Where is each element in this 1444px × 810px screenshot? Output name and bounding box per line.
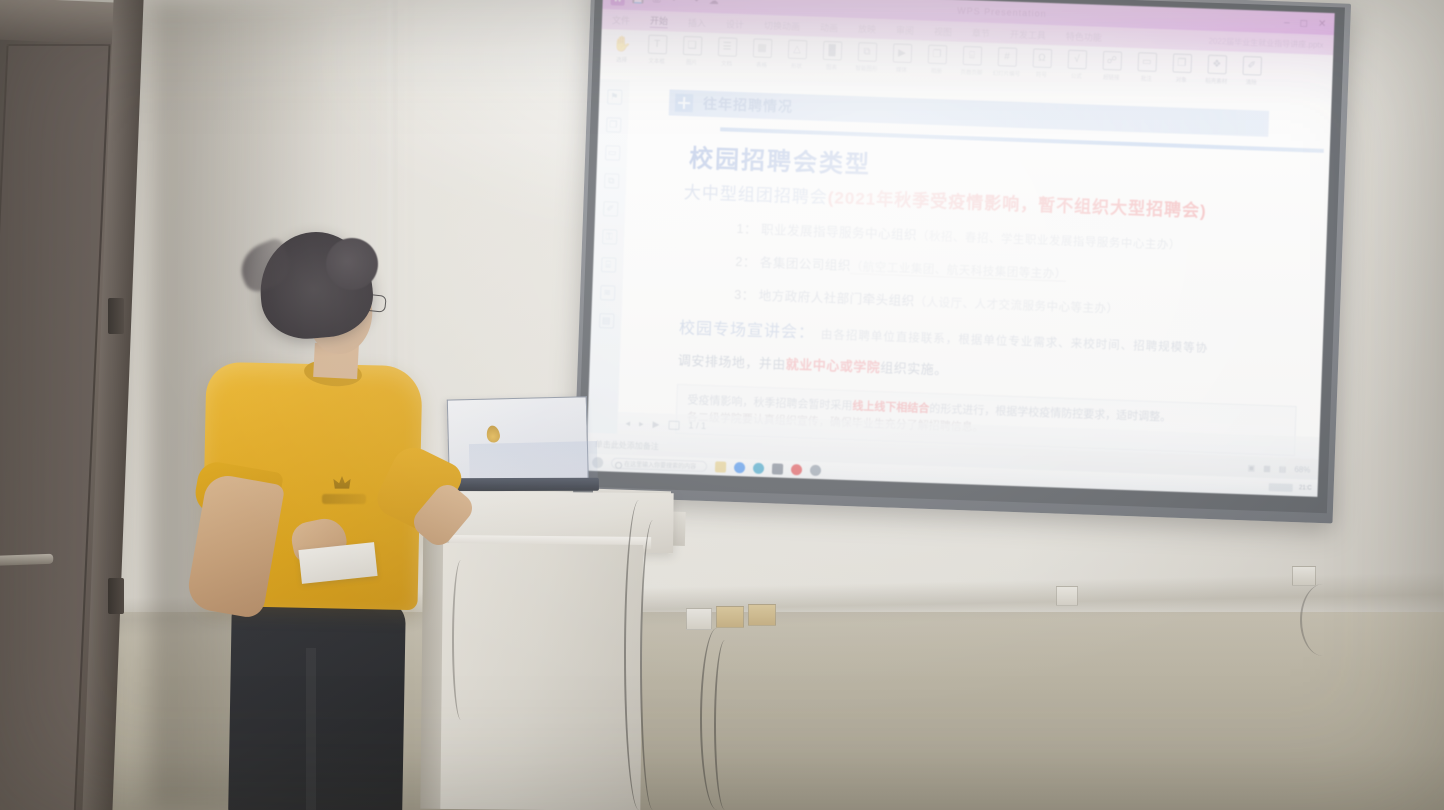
ribbon-button-label: 文本框 [648,56,665,65]
ribbon-button-label: 清除 [1246,77,1257,86]
presenter-hair-bun [326,238,378,290]
text-box-icon: T [647,35,667,55]
wall-outlet [748,604,776,626]
door-hinge [108,298,124,334]
ribbon-button-label: 形状 [791,61,802,70]
list-item-index: 1： [736,222,757,237]
clock-widget[interactable] [1269,483,1293,492]
sorter-view-icon[interactable]: ▦ [1263,463,1271,472]
line3-title: 校园专场宣讲会： [679,320,816,342]
list-item-note: （航空工业集团、航天科技集团等主办） [851,261,1067,282]
podium-front-panel [440,543,643,810]
ribbon-button-document[interactable]: ☰文档 [713,37,740,68]
brush-icon[interactable]: ✐ [602,201,618,217]
ribbon-tab-9[interactable]: 章节 [972,26,990,40]
presenter [196,228,456,810]
notes-placeholder[interactable]: 单击此处添加备注 [595,438,659,451]
shirt-crown-glyph [330,476,354,494]
tray-label: 21:C [1299,485,1312,491]
eraser-icon: ✐ [1242,56,1262,76]
ribbon-button-hand-select[interactable]: ✋选择 [608,33,635,64]
slide-heading: 校园招聘会类型 [689,138,872,179]
notes-icon[interactable]: ⌸ [600,257,616,273]
presenter-legs [228,598,406,810]
list-item-text: 地方政府人社部门牵头组织 [758,289,914,309]
folder-icon[interactable] [715,461,726,472]
line3-detail: 由各招聘单位直接联系，根据单位专业需求、来校时间、招聘规模等协 [821,329,1209,355]
chrome-icon[interactable] [734,462,745,473]
line4-suffix: 组织实施。 [880,360,948,377]
projection-screen: W 💾 ⎙ ↶ ↷ ☁ WPS Presentation – ◻ ✕ [573,0,1351,523]
ribbon-button-label: 公式 [1071,71,1082,80]
ribbon-tab-11[interactable]: 特色功能 [1066,29,1102,43]
slide-line-2: 大中型组团招聘会(2021年秋季受疫情影响，暫不组织大型招聘会) [684,178,1208,222]
callout-1-red: 线上线下相结合 [852,400,929,415]
ribbon-button-header-footer[interactable]: ⌸页眉页脚 [958,46,985,77]
ribbon-tab-8[interactable]: 视图 [934,24,952,38]
ribbon-button-label: 文档 [721,59,732,68]
line2-plain: 大中型组团招聘会 [684,183,829,207]
podium-cable [452,560,470,720]
ribbon-button-shape[interactable]: △形状 [783,40,810,71]
slide-list-item: 2：各集团公司组织（航空工业集团、航天科技集团等主办） [735,251,1180,286]
list-item-note: （人设厅、人才交流服务中心等主办） [914,296,1118,315]
ribbon-button-slide-number[interactable]: #幻灯片编号 [993,47,1020,78]
lock-icon[interactable]: ⚿ [601,229,617,245]
ribbon-button-picture[interactable]: ❑图片 [678,36,705,67]
ribbon-button-symbol[interactable]: Ω符号 [1028,48,1055,79]
ribbon-tab-2[interactable]: 插入 [688,16,706,30]
slide-number-icon: # [997,47,1017,67]
ribbon-button-label: 符号 [1036,70,1047,79]
zoom-level-label[interactable]: 68% [1294,465,1310,475]
next-slide-icon[interactable]: ▸ [639,418,644,429]
ribbon-tab-6[interactable]: 放映 [858,22,876,36]
wall-outlet [1292,566,1316,586]
reading-view-icon[interactable]: ▤ [1279,464,1287,473]
table-icon: ▦ [752,38,772,58]
wps-logo-icon: W [611,0,625,6]
chart-icon: █ [822,41,842,61]
ribbon-button-media[interactable]: ▶媒体 [888,43,915,74]
smartart-icon: ⧉ [857,42,877,62]
banner-title: 往年招聘情况 [703,94,794,117]
slide-content: 往年招聘情况 校园招聘会类型 大中型组团招聘会(2021年秋季受疫情影响，暫不组… [617,80,1331,459]
wps-presentation-window: W 💾 ⎙ ↶ ↷ ☁ WPS Presentation – ◻ ✕ [586,0,1335,497]
screen-bezel: W 💾 ⎙ ↶ ↷ ☁ WPS Presentation – ◻ ✕ [577,0,1345,513]
thumbnail-icon[interactable] [668,420,679,429]
ribbon-tab-3[interactable]: 设计 [726,17,744,31]
slide-list-item: 1：职业发展指导服务中心组织（秋招、春招、学生职业发展指导服务中心主办） [736,218,1181,253]
ribbon-button-table[interactable]: ▦表格 [748,38,775,69]
laptop-lid [447,396,589,483]
ribbon-button-label: 对象 [1176,75,1187,84]
ribbon-button-label: 媒体 [896,65,907,74]
list-item-index: 3： [734,288,755,303]
hyperlink-icon: ☍ [1102,51,1122,71]
hanging-cable [640,520,666,810]
taskbar-tray: 21:C [1269,483,1312,493]
edge-icon[interactable] [753,463,764,474]
ribbon-button-eraser[interactable]: ✐清除 [1238,56,1265,87]
slide-canvas[interactable]: 往年招聘情况 校园招聘会类型 大中型组团招聘会(2021年秋季受疫情影响，暫不组… [617,80,1331,459]
plus-icon [675,94,694,113]
album-icon: ❐ [927,45,947,65]
close-icon[interactable]: ✕ [1318,18,1327,29]
comment-icon: ▭ [1137,52,1157,72]
screen-surface: W 💾 ⎙ ↶ ↷ ☁ WPS Presentation – ◻ ✕ [586,0,1335,497]
qq-icon[interactable] [810,465,821,476]
sorter-page-label: 1 / 1 [688,420,706,431]
line4-prefix: 调安排场地，并由 [678,353,786,372]
header-footer-icon: ⌸ [962,46,982,66]
undo-icon[interactable]: ↶ [670,0,682,7]
ribbon-button-label: 页眉页脚 [960,67,982,76]
ribbon-tab-7[interactable]: 审阅 [896,23,914,37]
wall-cable [1300,584,1346,656]
work-area: ⚑❐▭⧉✐⚿⌸≋▤ 往年招聘情况 校园招聘会类型 大中型组 [587,79,1331,459]
play-icon[interactable]: ▶ [652,419,659,430]
ribbon-button-label: 智能图形 [855,63,877,72]
ribbon-button-album[interactable]: ❐相册 [923,45,950,76]
share-icon[interactable]: ≋ [599,285,615,301]
ribbon-button-text-box[interactable]: T文本框 [643,35,670,66]
screenshot-root: W 💾 ⎙ ↶ ↷ ☁ WPS Presentation – ◻ ✕ [0,0,1444,810]
save-icon[interactable]: 💾 [632,0,644,5]
ribbon-button-comment[interactable]: ▭批注 [1133,52,1160,83]
numbered-list: 1：职业发展指导服务中心组织（秋招、春招、学生职业发展指导服务中心主办）2：各集… [733,218,1181,333]
prev-slide-icon[interactable]: ◂ [625,418,630,429]
laptop-brand-logo-icon [485,425,501,444]
ribbon-button-object[interactable]: ❒对象 [1168,53,1195,84]
shirt-logo-icon [322,476,366,508]
presenter-leg-seam [306,648,316,810]
line2-red: (2021年秋季受疫情影响，暫不组织大型招聘会) [827,188,1207,221]
shirt-wordmark [322,494,366,504]
media-icon[interactable] [791,464,802,475]
ribbon-button-label: 选择 [616,55,627,64]
shape-icon: △ [787,40,807,60]
list-item-note: （秋招、春招、学生职业发展指导服务中心主办） [917,230,1181,251]
normal-view-icon[interactable]: ▣ [1248,463,1256,472]
ribbon-button-label: 超链接 [1103,72,1120,81]
ribbon-tab-5[interactable]: 动画 [820,20,838,34]
wall-outlet [1056,586,1078,606]
list-item-index: 2： [735,255,756,270]
wall-outlet [716,606,744,628]
ribbon-button-hyperlink[interactable]: ☍超链接 [1098,51,1125,82]
flash-icon: ❖ [1207,55,1227,75]
print-icon[interactable]: ⎙ [651,0,663,6]
document-name: 2022届毕业生就业指导讲座.pptx [1208,35,1323,50]
ribbon-button-label: 图片 [686,57,697,66]
resource-icon[interactable]: ▤ [598,313,614,329]
callout-1b: 秋季招聘会暂时采用 [753,397,852,413]
slide-line-4: 调安排场地，并由就业中心或学院组织实施。 [678,350,949,379]
slide-list-item: 3：地方政府人社部门牵头组织（人设厅、人才交流服务中心等主办） [734,284,1179,319]
comment-icon[interactable]: ▭ [604,145,620,161]
ribbon-tab-1[interactable]: 开始 [650,14,669,29]
layers-icon[interactable]: ⧉ [603,173,619,189]
ribbon-button-label: 稻壳素材 [1205,76,1227,85]
ribbon-button-label: 相册 [931,66,942,75]
object-icon: ❒ [1172,53,1192,73]
line4-red: 就业中心或学院 [786,357,881,375]
callout-1a: 受疫情影响， [687,394,753,408]
ribbon-tab-4[interactable]: 切换动画 [764,18,800,32]
outlet-cable [714,640,736,810]
hand-select-icon: ✋ [612,33,632,53]
wall-outlet [686,608,712,630]
window-controls: – ◻ ✕ [1284,17,1327,30]
cloud-icon[interactable]: ☁ [708,0,720,8]
ribbon-button-label: 幻灯片编号 [992,68,1020,77]
page-icon[interactable]: ❐ [605,117,621,133]
ribbon-button-chart[interactable]: █图表 [818,41,845,72]
taskbar-search-input[interactable]: 在这里输入你要搜索的内容 [611,458,707,472]
ribbon-button-equation[interactable]: √公式 [1063,50,1090,81]
ribbon-button-label: 表格 [756,60,767,69]
symbol-icon: Ω [1032,48,1052,68]
equation-icon: √ [1067,50,1087,70]
ribbon-button-smartart[interactable]: ⧉智能图形 [853,42,880,73]
ribbon-button-flash[interactable]: ❖稻壳素材 [1203,55,1230,86]
media-icon: ▶ [892,43,912,63]
bookmark-icon[interactable]: ⚑ [606,89,622,105]
document-icon: ☰ [717,37,737,57]
wps-icon[interactable] [772,463,783,474]
minimize-icon[interactable]: – [1284,17,1290,28]
door-hinge [108,578,124,614]
list-item-text: 职业发展指导服务中心组织 [761,223,917,243]
list-item-text: 各集团公司组织 [760,256,851,273]
door-top-edge [0,0,130,45]
ribbon-tab-0[interactable]: 文件 [612,13,630,27]
redo-icon[interactable]: ↷ [689,0,701,7]
ribbon-tab-10[interactable]: 开发工具 [1010,27,1046,41]
ribbon-button-label: 图表 [826,62,837,71]
picture-icon: ❑ [682,36,702,56]
ribbon-button-label: 批注 [1141,74,1152,83]
maximize-icon[interactable]: ◻ [1299,17,1308,28]
